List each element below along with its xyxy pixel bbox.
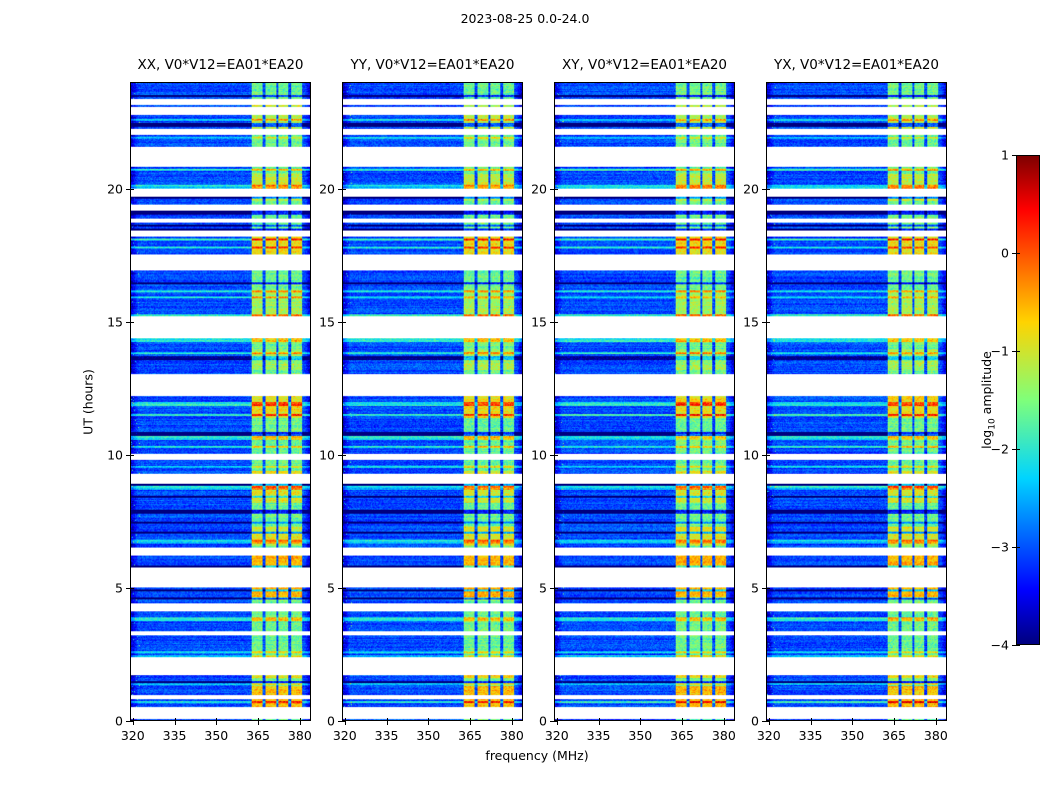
y-axis-tick-label: 10 [531,447,547,462]
x-axis-tick [345,721,346,725]
y-axis-tick-inner [130,189,134,190]
x-axis-tick [894,721,895,725]
colorbar-tick-inner [1016,547,1020,548]
x-axis-tick-label: 335 [587,728,611,743]
dynamic-spectrum-yy [343,83,522,720]
y-axis-tick-inner [766,455,770,456]
y-axis-tick-inner [766,588,770,589]
x-axis-tick-label: 320 [333,728,357,743]
x-axis-tick-label: 320 [757,728,781,743]
y-axis-tick-label: 5 [751,580,759,595]
x-axis-tick-inner [428,718,429,722]
y-axis-tick-label: 10 [319,447,335,462]
x-axis-tick [216,721,217,725]
x-axis-tick [557,721,558,725]
y-axis-tick-label: 15 [107,314,123,329]
x-axis-tick-inner [769,718,770,722]
x-axis-tick [175,721,176,725]
x-axis-tick [852,721,853,725]
x-axis-tick-label: 320 [121,728,145,743]
x-axis-tick-label: 350 [416,728,440,743]
y-axis-tick-inner [554,322,558,323]
y-axis-tick-label: 5 [115,580,123,595]
x-axis-tick-label: 380 [288,728,312,743]
dynamic-spectrum-yx [767,83,946,720]
x-axis-tick-inner [300,718,301,722]
x-axis-tick-label: 350 [840,728,864,743]
x-axis-tick [599,721,600,725]
x-axis-tick [811,721,812,725]
axes-frame-xy [554,82,735,721]
y-axis-tick-label: 0 [539,714,547,729]
x-axis-tick [258,721,259,725]
colorbar-tick-inner [1016,253,1020,254]
y-axis-tick-label: 20 [319,181,335,196]
y-axis-tick-inner [130,588,134,589]
x-axis-tick [387,721,388,725]
y-axis-tick-label: 10 [743,447,759,462]
x-axis-tick-label: 350 [628,728,652,743]
colorbar[interactable]: 10−1−2−3−4 [1016,155,1040,645]
x-axis-tick-inner [852,718,853,722]
y-axis-tick-inner [554,588,558,589]
y-axis-tick-inner [130,322,134,323]
x-axis-tick-label: 365 [670,728,694,743]
y-axis-tick-label: 15 [531,314,547,329]
x-axis-tick-inner [345,718,346,722]
colorbar-tick-label: −4 [991,638,1009,653]
figure-suptitle: 2023-08-25 0.0-24.0 [0,11,1050,26]
y-axis-tick-inner [766,322,770,323]
x-axis-tick-inner [599,718,600,722]
x-axis-tick-label: 365 [882,728,906,743]
axes-frame-xx [130,82,311,721]
panel-title-xx: XX, V0*V12=EA01*EA20 [130,57,311,73]
y-axis-tick-inner [342,455,346,456]
x-axis-tick-inner [512,718,513,722]
x-axis-tick-inner [811,718,812,722]
panel-title-xy: XY, V0*V12=EA01*EA20 [554,57,735,73]
x-axis-tick [133,721,134,725]
x-axis-tick [512,721,513,725]
x-axis-tick [936,721,937,725]
colorbar-tick-label: −2 [991,442,1009,457]
y-axis-tick-inner [342,189,346,190]
colorbar-tick-inner [1016,351,1020,352]
x-axis-tick-inner [258,718,259,722]
y-axis-tick-label: 20 [743,181,759,196]
x-axis-tick-label: 365 [458,728,482,743]
x-axis-tick [470,721,471,725]
x-axis-tick [769,721,770,725]
x-axis-tick-inner [557,718,558,722]
x-axis-tick-inner [682,718,683,722]
spectrum-panel-yx[interactable]: YX, V0*V12=EA01*EA2005101520320335350365… [766,82,947,721]
x-axis-tick-inner [724,718,725,722]
colorbar-tick-label: −3 [991,540,1009,555]
x-axis-tick [724,721,725,725]
x-axis-tick [300,721,301,725]
x-axis-tick-inner [387,718,388,722]
x-axis-tick-inner [133,718,134,722]
y-axis-tick-label: 15 [319,314,335,329]
x-axis-tick-inner [894,718,895,722]
x-axis-tick-label: 320 [545,728,569,743]
x-axis-tick-label: 335 [163,728,187,743]
axes-frame-yx [766,82,947,721]
x-axis-tick-inner [216,718,217,722]
y-axis-tick-label: 15 [743,314,759,329]
panel-title-yx: YX, V0*V12=EA01*EA20 [766,57,947,73]
colorbar-tick-label: 0 [1001,246,1009,261]
x-axis-tick-inner [936,718,937,722]
y-axis-tick-label: 0 [115,714,123,729]
spectrum-panel-xx[interactable]: XX, V0*V12=EA01*EA2005101520320335350365… [130,82,311,721]
x-axis-label: frequency (MHz) [485,748,588,763]
x-axis-tick-label: 335 [799,728,823,743]
x-axis-tick-inner [175,718,176,722]
y-axis-tick-label: 5 [327,580,335,595]
x-axis-tick-label: 380 [924,728,948,743]
colorbar-gradient [1016,155,1040,645]
x-axis-tick-label: 365 [246,728,270,743]
x-axis-tick [682,721,683,725]
y-axis-tick-label: 5 [539,580,547,595]
x-axis-tick-inner [640,718,641,722]
y-axis-tick-label: 0 [327,714,335,729]
dynamic-spectrum-xy [555,83,734,720]
y-axis-tick-inner [342,588,346,589]
colorbar-tick-label: −1 [991,344,1009,359]
y-axis-tick-label: 20 [107,181,123,196]
colorbar-tick-inner [1016,155,1020,156]
y-axis-tick-inner [342,322,346,323]
x-axis-tick-label: 380 [500,728,524,743]
x-axis-tick-label: 335 [375,728,399,743]
y-axis-tick-label: 10 [107,447,123,462]
colorbar-tick-inner [1016,645,1020,646]
x-axis-tick-label: 380 [712,728,736,743]
x-axis-tick-inner [470,718,471,722]
colorbar-tick-inner [1016,449,1020,450]
panel-title-yy: YY, V0*V12=EA01*EA20 [342,57,523,73]
axes-frame-yy [342,82,523,721]
colorbar-label: log10 amplitude [979,351,998,449]
y-axis-tick-inner [130,455,134,456]
x-axis-tick [640,721,641,725]
dynamic-spectrum-xx [131,83,310,720]
x-axis-tick [428,721,429,725]
y-axis-tick-label: 0 [751,714,759,729]
x-axis-tick-label: 350 [204,728,228,743]
figure-canvas: 2023-08-25 0.0-24.0 UT (hours) frequency… [0,0,1050,800]
y-axis-tick-inner [554,189,558,190]
spectrum-panel-xy[interactable]: XY, V0*V12=EA01*EA2005101520320335350365… [554,82,735,721]
spectrum-panel-yy[interactable]: YY, V0*V12=EA01*EA2005101520320335350365… [342,82,523,721]
colorbar-tick-label: 1 [1001,148,1009,163]
y-axis-tick-inner [554,455,558,456]
y-axis-label: UT (hours) [81,369,96,435]
y-axis-tick-inner [766,189,770,190]
y-axis-tick-label: 20 [531,181,547,196]
